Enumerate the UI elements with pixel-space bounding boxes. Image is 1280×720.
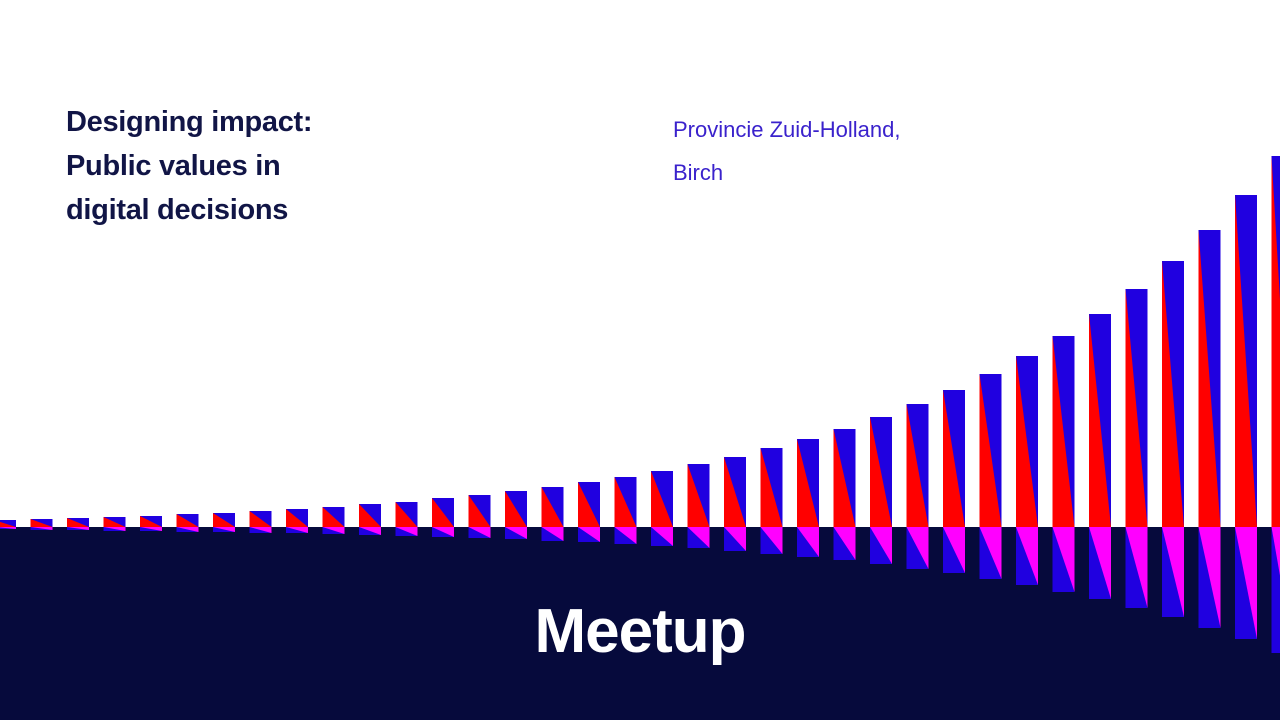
slide-canvas: Designing impact: Public values in digit…: [0, 0, 1280, 720]
footer-label: Meetup: [0, 596, 1280, 667]
slide-subtitle: Provincie Zuid-Holland, Birch: [673, 108, 1093, 194]
page-title: Designing impact: Public values in digit…: [66, 100, 486, 232]
